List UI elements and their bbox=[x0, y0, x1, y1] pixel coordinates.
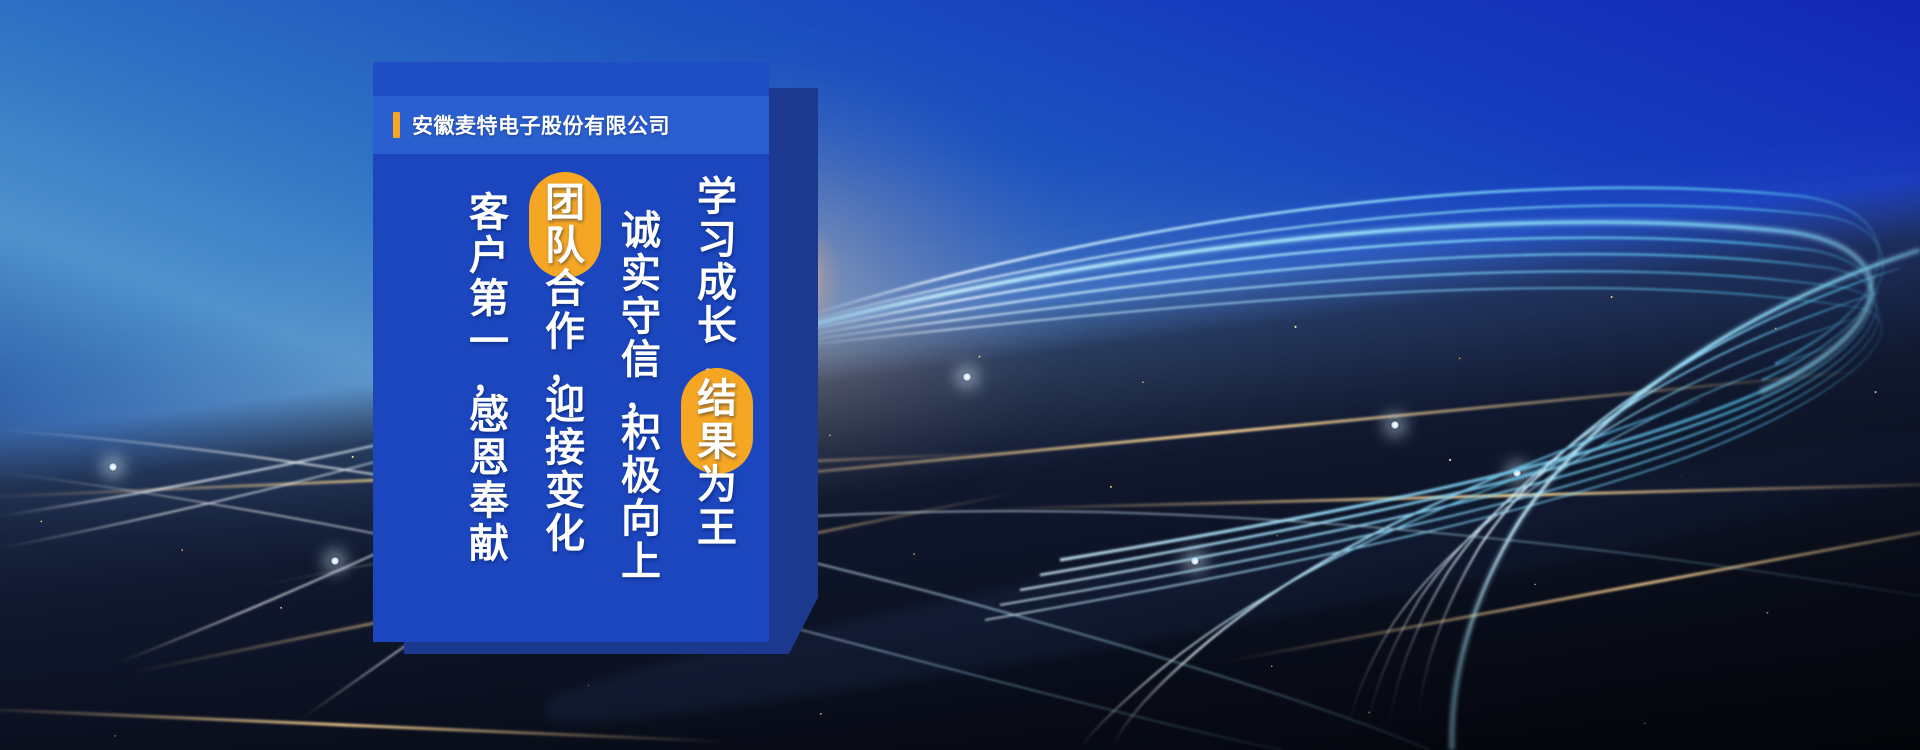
company-title-row: 安徽麦特电子股份有限公司 bbox=[393, 96, 670, 154]
slogan-char-text: 习 bbox=[697, 219, 737, 261]
slogan-char: 一 bbox=[465, 321, 513, 364]
slogan-char: 上 bbox=[617, 541, 665, 584]
slogan-teamwork: 团队合作，迎接变化 bbox=[527, 182, 603, 630]
slogan-char-text: 上 bbox=[621, 541, 661, 583]
slogan-char-text: 恩 bbox=[469, 437, 509, 479]
slogan-char-text: 团 bbox=[545, 182, 585, 224]
slogan-char: 变 bbox=[541, 470, 589, 513]
slogan-char: 向 bbox=[617, 498, 665, 541]
slogan-char-text: 王 bbox=[697, 507, 737, 549]
page-title: 安徽麦特电子股份有限公司 bbox=[412, 110, 670, 140]
slogan-char: 长 bbox=[693, 305, 741, 348]
slogan-char: 诚 bbox=[617, 210, 665, 253]
slogan-char: 极 bbox=[617, 455, 665, 498]
slogan-char: 献 bbox=[465, 523, 513, 566]
slogan-char-text: 守 bbox=[621, 296, 661, 338]
network-light-trails bbox=[0, 0, 1920, 750]
slogan-char-text: 变 bbox=[545, 470, 585, 512]
accent-bar-icon bbox=[393, 112, 400, 138]
slogan-char: 为 bbox=[693, 464, 741, 507]
slogan-char: 结 bbox=[693, 378, 741, 421]
slogan-char: 户 bbox=[465, 235, 513, 278]
slogan-char-text: 极 bbox=[621, 455, 661, 497]
slogan-char: 作 bbox=[541, 311, 589, 354]
slogan-char-text: 合 bbox=[545, 268, 585, 310]
slogan-char-text: 队 bbox=[545, 225, 585, 267]
slogan-integrity: 诚实守信，积极向上 bbox=[603, 210, 679, 630]
slogan-char-text: 接 bbox=[545, 427, 585, 469]
slogan-char: 接 bbox=[541, 427, 589, 470]
slogan-char: 团 bbox=[541, 182, 589, 225]
slogan-char-text: 迎 bbox=[545, 384, 585, 426]
slogan-char: 第 bbox=[465, 278, 513, 321]
slogan-columns: 学习成长，结果为王诚实守信，积极向上团队合作，迎接变化客户第一，感恩奉献 bbox=[373, 170, 769, 630]
slogan-char: 迎 bbox=[541, 384, 589, 427]
slogan-char-text: 感 bbox=[469, 394, 509, 436]
slogan-char: 奉 bbox=[465, 480, 513, 523]
slogan-char-text: 积 bbox=[621, 412, 661, 454]
slogan-char: 学 bbox=[693, 176, 741, 219]
slogan-char-text: 献 bbox=[469, 523, 509, 565]
slogan-customer-first: 客户第一，感恩奉献 bbox=[451, 192, 527, 630]
slogan-char-text: 信 bbox=[621, 339, 661, 381]
slogan-char-text: 化 bbox=[545, 513, 585, 555]
slogan-char: 感 bbox=[465, 394, 513, 437]
slogan-char: 队 bbox=[541, 225, 589, 268]
banner-hero: 安徽麦特电子股份有限公司 学习成长，结果为王诚实守信，积极向上团队合作，迎接变化… bbox=[0, 0, 1920, 750]
slogan-char-text: 结 bbox=[697, 378, 737, 420]
slogan-char: ， bbox=[617, 382, 665, 412]
slogan-learning-growth: 学习成长，结果为王 bbox=[679, 176, 755, 630]
slogan-char-text: 奉 bbox=[469, 480, 509, 522]
slogan-char-text: 第 bbox=[469, 278, 509, 320]
slogan-char: ， bbox=[541, 354, 589, 384]
slogan-char: 成 bbox=[693, 262, 741, 305]
slogan-char: 恩 bbox=[465, 437, 513, 480]
slogan-char-text: 一 bbox=[469, 321, 509, 363]
slogan-char-text: 为 bbox=[697, 464, 737, 506]
slogan-char-text: 成 bbox=[697, 262, 737, 304]
slogan-char-text: 学 bbox=[697, 176, 737, 218]
slogan-char: 化 bbox=[541, 513, 589, 556]
slogan-char: 习 bbox=[693, 219, 741, 262]
slogan-char: 合 bbox=[541, 268, 589, 311]
slogan-char: 客 bbox=[465, 192, 513, 235]
slogan-char: ， bbox=[465, 364, 513, 394]
slogan-char-text: 长 bbox=[697, 305, 737, 347]
slogan-char-text: 向 bbox=[621, 498, 661, 540]
slogan-char-text: 户 bbox=[469, 235, 509, 277]
slogan-char: 实 bbox=[617, 253, 665, 296]
slogan-char-text: 客 bbox=[469, 192, 509, 234]
slogan-char: 王 bbox=[693, 507, 741, 550]
slogan-char-text: 果 bbox=[697, 421, 737, 463]
slogan-char-text: 作 bbox=[545, 311, 585, 353]
slogan-char: 积 bbox=[617, 412, 665, 455]
slogan-char: 守 bbox=[617, 296, 665, 339]
slogan-char: 信 bbox=[617, 339, 665, 382]
slogan-char-text: 实 bbox=[621, 253, 661, 295]
slogan-char-text: 诚 bbox=[621, 210, 661, 252]
slogan-char: 果 bbox=[693, 421, 741, 464]
